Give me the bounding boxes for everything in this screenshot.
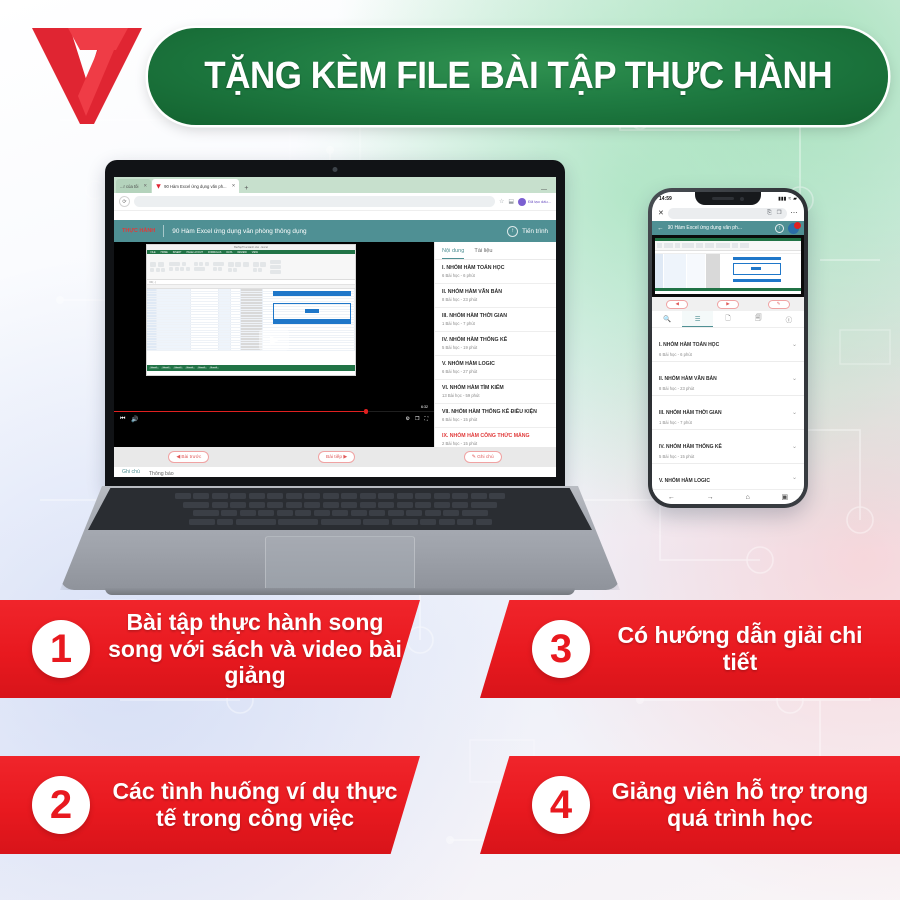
list-item[interactable]: II. NHÓM HÀM VĂN BẢN 8 Bài học - 23 phút…: [652, 362, 804, 396]
divider: [163, 225, 164, 237]
note-label: Ghi chú: [477, 455, 494, 460]
chapter-meta: 13 Bài học - 59 phút: [442, 393, 549, 398]
phone-screen: 14:59 ▮▮▮ ≈ ▰ ✕: [652, 192, 804, 504]
list-item[interactable]: I. NHÓM HÀM TOÁN HỌC 6 Bài học - 6 phút: [435, 260, 556, 284]
forward-icon[interactable]: →: [707, 494, 714, 501]
excel-sheet-tabs: Sheet1 Sheet2 Sheet3 Sheet4 Sheet5 Sheet…: [147, 365, 355, 371]
title-banner: TẶNG KÈM FILE BÀI TẬP THỰC HÀNH: [148, 28, 888, 125]
feature-text: Bài tập thực hành song song với sách và …: [90, 609, 420, 690]
chapter-title: VII. NHÓM HÀM THỐNG KÊ ĐIỀU KIỆN: [442, 409, 549, 416]
video-progress-bar[interactable]: [114, 411, 434, 413]
profile-label: Đã tạo dấu...: [528, 199, 551, 204]
omnibar-actions: ☆ ⬓ Đã tạo dấu...: [499, 198, 551, 206]
v7-logo: [28, 24, 146, 128]
feature-banner-4: 4 Giảng viên hỗ trợ trong quá trình học: [480, 756, 900, 854]
window-controls[interactable]: —: [541, 187, 556, 193]
settings-icon[interactable]: ⚙: [406, 416, 410, 422]
chapter-meta: 2 Bài học - 15 phút: [442, 441, 549, 446]
browser-tab-active[interactable]: 90 Hàm Excel ứng dụng văn ph... ✕: [152, 179, 239, 193]
sheet-tab[interactable]: Sheet3: [173, 367, 183, 369]
phone-browser-bar: ✕ ⎘ ❐ ⋯: [652, 205, 804, 221]
list-item[interactable]: I. NHÓM HÀM TOÁN HỌC 6 Bài học - 6 phút …: [652, 328, 804, 362]
status-time: 14:59: [659, 196, 672, 202]
reload-icon[interactable]: ⟳: [119, 196, 130, 207]
close-icon[interactable]: ✕: [143, 183, 147, 189]
notes-icon[interactable]: 🗐: [743, 311, 773, 327]
site-brand[interactable]: THỰC HÀNH: [122, 228, 155, 234]
info-icon[interactable]: ⓘ: [774, 311, 804, 327]
course-body: BaiTapThucHanh.xlsx - Excel FILE HOME IN…: [114, 242, 556, 447]
chapter-meta: 6 Bài học - 6 phút: [442, 273, 549, 278]
status-indicators: ▮▮▮ ≈ ▰: [778, 196, 797, 202]
chevron-down-icon[interactable]: ⌄: [792, 409, 797, 416]
feature-number: 4: [532, 776, 590, 834]
phone-lesson-actions: ◀ ▶ ✎: [652, 297, 804, 311]
prev-lesson-button[interactable]: ◀ Bài trước: [168, 451, 209, 463]
note-button[interactable]: ✎: [768, 300, 790, 309]
poster-canvas: TẶNG KÈM FILE BÀI TẬP THỰC HÀNH ...r của…: [0, 0, 900, 900]
volume-icon[interactable]: 🔊: [131, 416, 138, 423]
tab-label: ...r của tôi: [120, 184, 138, 189]
laptop-front-edge: [105, 588, 575, 595]
signal-icon: ▮▮▮: [778, 196, 786, 202]
excel-tab-data[interactable]: DATA: [225, 251, 234, 254]
next-lesson-button[interactable]: Bài tiếp ▶: [318, 451, 355, 463]
phone-tabbar: 🔍 ☰ 🗋 🗐 ⓘ: [652, 311, 804, 328]
play-icon: [270, 335, 278, 345]
prev-lesson-button[interactable]: ◀: [666, 300, 688, 309]
excel-tab-insert[interactable]: INSERT: [171, 251, 183, 254]
laptop-keyboard: [60, 488, 620, 530]
chapter-title: II. NHÓM HÀM VĂN BẢN: [659, 376, 717, 382]
address-input[interactable]: ⎘ ❐: [668, 208, 787, 219]
battery-icon: ▰: [793, 196, 797, 202]
avatar: [518, 198, 526, 206]
chapter-title: III. NHÓM HÀM THỜI GIAN: [659, 410, 722, 416]
bookmark-star-icon[interactable]: ☆: [499, 198, 504, 205]
browser-tabstrip: ...r của tôi ✕ 90 Hàm Excel ứng dụng văn…: [114, 177, 556, 193]
note-tabs: Ghi chú Thông báo: [114, 467, 556, 477]
phone-mockup: 14:59 ▮▮▮ ≈ ▰ ✕: [648, 188, 808, 508]
chapter-title: I. NHÓM HÀM TOÁN HỌC: [659, 342, 719, 348]
next-icon: ▶: [726, 301, 730, 307]
chapter-title: VI. NHÓM HÀM TÌM KIẾM: [442, 385, 549, 392]
excel-rows: [147, 289, 355, 365]
next-label: Bài tiếp: [326, 455, 342, 460]
feature-banner-1: 1 Bài tập thực hành song song với sách v…: [0, 600, 420, 698]
feature-number: 3: [532, 620, 590, 678]
tab-thong-bao[interactable]: Thông báo: [149, 471, 174, 477]
tab-ghi-chu[interactable]: Ghi chú: [122, 469, 140, 477]
feature-banner-3: 3 Có hướng dẫn giải chi tiết: [480, 600, 900, 698]
feature-number: 2: [32, 776, 90, 834]
excel-preview: [655, 238, 801, 294]
feature-text: Có hướng dẫn giải chi tiết: [590, 622, 900, 676]
excel-column-headers: [147, 285, 355, 289]
note-button[interactable]: ✎ Ghi chú: [464, 451, 502, 463]
excel-grid: Sheet1 Sheet2 Sheet3 Sheet4 Sheet5 Sheet…: [147, 285, 355, 371]
chapter-meta: 1 Bài học - 7 phút: [659, 420, 792, 425]
favicon-icon: [156, 184, 161, 189]
sheet-tab[interactable]: Sheet5: [197, 367, 207, 369]
page-title: TẶNG KÈM FILE BÀI TẬP THỰC HÀNH: [204, 55, 832, 98]
chapter-meta: 6 Bài học - 6 phút: [659, 352, 792, 357]
chapter-title: I. NHÓM HÀM TOÁN HỌC: [442, 265, 549, 272]
chapter-title: V. NHÓM HÀM LOGIC: [442, 361, 549, 368]
more-icon[interactable]: ⋯: [791, 209, 799, 217]
new-tab-button[interactable]: +: [240, 185, 252, 193]
course-title: 90 Hàm Excel ứng dụng văn ph...: [668, 225, 772, 231]
speaker-icon: [712, 197, 734, 200]
chevron-down-icon[interactable]: ⌄: [792, 341, 797, 348]
progress-icon: ↑: [507, 226, 518, 237]
chapter-title: III. NHÓM HÀM THỜI GIAN: [442, 313, 549, 320]
chevron-down-icon[interactable]: ⌄: [792, 375, 797, 382]
chapter-meta: 1 Bài học - 7 phút: [442, 321, 549, 326]
list-item[interactable]: III. NHÓM HÀM THỜI GIAN 1 Bài học - 7 ph…: [652, 396, 804, 430]
phone-course-header: ← 90 Hàm Excel ứng dụng văn ph... ↑: [652, 221, 804, 235]
back-icon[interactable]: ←: [657, 225, 664, 232]
front-camera-icon: [740, 197, 744, 201]
close-icon[interactable]: ✕: [658, 209, 664, 217]
feature-text: Giảng viên hỗ trợ trong quá trình học: [590, 778, 900, 832]
sheet-tab[interactable]: Sheet2: [161, 367, 171, 369]
list-item[interactable]: V. NHÓM HÀM LOGIC 6 Bài học - 27 phút: [435, 356, 556, 380]
sheet-tab[interactable]: Sheet6: [209, 367, 219, 369]
phone-browser-nav: ← → ⌂ ▣: [652, 489, 804, 504]
phone-video-player[interactable]: [652, 235, 804, 297]
pencil-icon: ✎: [777, 301, 781, 307]
excel-chart-bar-3: [273, 319, 351, 324]
pip-icon[interactable]: ❐: [415, 416, 419, 422]
list-item[interactable]: VI. NHÓM HÀM TÌM KIẾM 13 Bài học - 59 ph…: [435, 380, 556, 404]
phone-notch: [695, 192, 761, 205]
fullscreen-icon[interactable]: ⛶: [424, 416, 428, 422]
browser-tab-inactive[interactable]: ...r của tôi ✕: [116, 179, 151, 193]
close-icon[interactable]: ✕: [232, 183, 236, 189]
list-item[interactable]: III. NHÓM HÀM THỜI GIAN 1 Bài học - 7 ph…: [435, 308, 556, 332]
list-item[interactable]: V. NHÓM HÀM LOGIC ⌄: [652, 464, 804, 492]
chapter-meta: 5 Bài học - 15 phút: [659, 454, 792, 459]
bookmark-icon[interactable]: ⎘: [767, 210, 771, 217]
course-header: THỰC HÀNH 90 Hàm Excel ứng dụng văn phòn…: [114, 220, 556, 242]
chevron-down-icon[interactable]: ⌄: [792, 474, 797, 481]
play-button[interactable]: [259, 330, 289, 351]
prev-icon[interactable]: ⏮: [120, 416, 125, 423]
course-sidebar: Nội dung Tài liệu I. NHÓM HÀM TOÁN HỌC 6…: [434, 242, 556, 447]
excel-tab-pagelayout[interactable]: PAGE LAYOUT: [185, 251, 205, 254]
extensions-icon[interactable]: ⬓: [508, 198, 514, 205]
notification-badge[interactable]: [788, 223, 799, 234]
address-input[interactable]: [134, 196, 495, 207]
video-player[interactable]: BaiTapThucHanh.xlsx - Excel FILE HOME IN…: [114, 242, 434, 447]
chapter-title: IV. NHÓM HÀM THỐNG KÊ: [442, 337, 549, 344]
next-icon: ▶: [343, 455, 347, 460]
video-time-label: 6:32: [421, 405, 428, 409]
excel-tab-home[interactable]: HOME: [159, 251, 169, 254]
chapter-meta: 6 Bài học - 27 phút: [442, 369, 549, 374]
phone-chapter-list: I. NHÓM HÀM TOÁN HỌC 6 Bài học - 6 phút …: [652, 328, 804, 492]
excel-chart-bar-1: [273, 291, 351, 296]
chapter-meta: 8 Bài học - 23 phút: [442, 297, 549, 302]
header: TẶNG KÈM FILE BÀI TẬP THỰC HÀNH: [0, 0, 900, 140]
tab-noi-dung[interactable]: Nội dung: [442, 248, 464, 259]
chapter-title: IX. NHÓM HÀM CÔNG THỨC MẢNG: [442, 433, 549, 440]
chapter-meta: 5 Bài học - 19 phút: [442, 345, 549, 350]
list-item[interactable]: IX. NHÓM HÀM CÔNG THỨC MẢNG 2 Bài học - …: [435, 428, 556, 447]
bookmarks-bar: [114, 211, 556, 220]
chapter-meta: 8 Bài học - 23 phút: [659, 386, 792, 391]
laptop-trackpad[interactable]: [265, 536, 415, 592]
search-icon[interactable]: 🔍: [652, 311, 682, 327]
excel-title: BaiTapThucHanh.xlsx - Excel: [234, 246, 268, 249]
excel-tab-view[interactable]: VIEW: [250, 251, 259, 254]
course-title: 90 Hàm Excel ứng dụng văn phòng thông dụ…: [172, 228, 306, 235]
progress-label: Tiến trình: [522, 228, 548, 235]
formula-text: =IF(...): [149, 281, 156, 284]
phone-frame: 14:59 ▮▮▮ ≈ ▰ ✕: [648, 188, 808, 508]
chevron-down-icon[interactable]: ⌄: [792, 443, 797, 450]
back-icon[interactable]: ←: [668, 494, 675, 501]
prev-icon: ◀: [676, 301, 680, 307]
excel-tab-file[interactable]: FILE: [149, 251, 157, 254]
excel-window: BaiTapThucHanh.xlsx - Excel FILE HOME IN…: [146, 244, 356, 376]
sidebar-tabs: Nội dung Tài liệu: [435, 242, 556, 260]
prev-label: Bài trước: [181, 455, 201, 460]
excel-tab-formulas[interactable]: FORMULAS: [207, 251, 223, 254]
pencil-icon: ✎: [472, 455, 476, 460]
feature-banner-2: 2 Các tình huống ví dụ thực tế trong côn…: [0, 756, 420, 854]
video-progress-fill: [114, 411, 364, 413]
list-item[interactable]: IV. NHÓM HÀM THỐNG KÊ 5 Bài học - 15 phú…: [652, 430, 804, 464]
home-icon[interactable]: ⌂: [745, 494, 749, 501]
tabs-icon[interactable]: ▣: [781, 493, 788, 501]
devices-section: ...r của tôi ✕ 90 Hàm Excel ứng dụng văn…: [0, 140, 900, 590]
chapter-title: IV. NHÓM HÀM THỐNG KÊ: [659, 444, 722, 450]
chapter-meta: 6 Bài học - 15 phút: [442, 417, 549, 422]
prev-icon: ◀: [176, 455, 180, 460]
sheet-tab[interactable]: Sheet1: [149, 367, 159, 369]
browser-omnibar: ⟳ ☆ ⬓ Đã tạo dấu...: [114, 193, 556, 211]
video-controls: ⏮ 🔊 ⚙ ❐ ⛶: [114, 413, 434, 425]
tab-label: 90 Hàm Excel ứng dụng văn ph...: [164, 184, 226, 189]
laptop-mockup: ...r của tôi ✕ 90 Hàm Excel ứng dụng văn…: [60, 160, 620, 590]
list-item[interactable]: VII. NHÓM HÀM THỐNG KÊ ĐIỀU KIỆN 6 Bài h…: [435, 404, 556, 428]
list-item[interactable]: IV. NHÓM HÀM THỐNG KÊ 5 Bài học - 19 phú…: [435, 332, 556, 356]
chapter-title: II. NHÓM HÀM VĂN BẢN: [442, 289, 549, 296]
feature-number: 1: [32, 620, 90, 678]
document-icon[interactable]: 🗋: [713, 311, 743, 327]
list-item[interactable]: II. NHÓM HÀM VĂN BẢN 8 Bài học - 23 phút: [435, 284, 556, 308]
webcam-icon: [333, 167, 338, 172]
sheet-tab[interactable]: Sheet4: [185, 367, 195, 369]
laptop-lid: ...r của tôi ✕ 90 Hàm Excel ứng dụng văn…: [105, 160, 565, 490]
profile-chip[interactable]: Đã tạo dấu...: [518, 198, 551, 206]
excel-tab-review[interactable]: REVIEW: [236, 251, 248, 254]
phone-statusbar: 14:59 ▮▮▮ ≈ ▰: [652, 192, 804, 205]
excel-chart-bar-2: [305, 309, 319, 313]
chapter-title: V. NHÓM HÀM LOGIC: [659, 478, 710, 484]
progress-icon[interactable]: ↑: [775, 224, 784, 233]
excel-ribbon: [147, 254, 355, 280]
laptop-screen: ...r của tôi ✕ 90 Hàm Excel ứng dụng văn…: [114, 177, 556, 477]
feature-text: Các tình huống ví dụ thực tế trong công …: [90, 778, 420, 832]
content-list-icon[interactable]: ☰: [682, 311, 712, 327]
tabs-icon[interactable]: ❐: [777, 210, 782, 216]
tab-tai-lieu[interactable]: Tài liệu: [474, 248, 492, 259]
wifi-icon: ≈: [788, 196, 791, 202]
lesson-actions: ◀ Bài trước Bài tiếp ▶ ✎ Ghi chú: [114, 447, 556, 467]
progress-button[interactable]: ↑ Tiến trình: [507, 226, 548, 237]
next-lesson-button[interactable]: ▶: [717, 300, 739, 309]
